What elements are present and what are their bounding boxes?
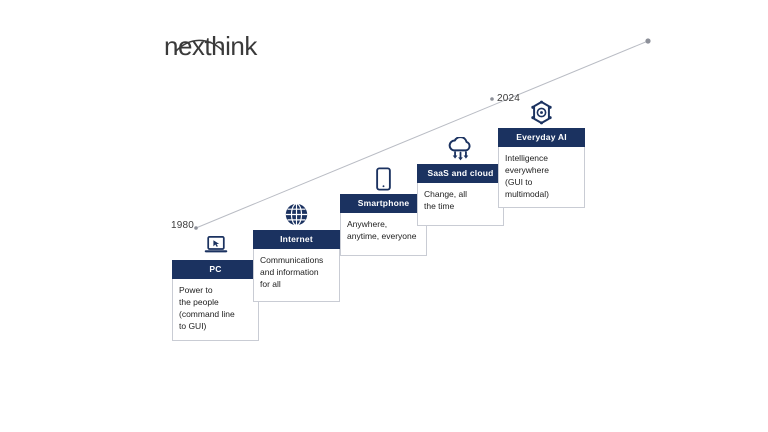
nexthink-logo: nexthink	[164, 30, 314, 64]
era-description: Power to the people (command line to GUI…	[172, 279, 259, 341]
era-title: PC	[172, 260, 259, 279]
era-description: Change, all the time	[417, 183, 504, 226]
svg-text:nexthink: nexthink	[164, 31, 258, 61]
era-card-pc[interactable]: PC Power to the people (command line to …	[172, 260, 259, 341]
era-card-saas[interactable]: SaaS and cloud Change, all the time	[417, 164, 504, 226]
era-card-internet[interactable]: Internet Communications and information …	[253, 230, 340, 302]
era-card-ai[interactable]: Everyday AI Intelligence everywhere (GUI…	[498, 128, 585, 208]
era-title: Smartphone	[340, 194, 427, 213]
cloud-download-icon	[446, 135, 476, 161]
era-title: Everyday AI	[498, 128, 585, 147]
globe-icon	[282, 201, 312, 227]
era-description: Intelligence everywhere (GUI to multimod…	[498, 147, 585, 208]
era-title: Internet	[253, 230, 340, 249]
timeline-start-year: 1980	[171, 220, 194, 231]
timeline-end-year: 2024	[497, 93, 520, 104]
laptop-cursor-icon	[201, 231, 231, 257]
ai-chip-icon	[527, 99, 557, 125]
era-description: Communications and information for all	[253, 249, 340, 302]
era-title: SaaS and cloud	[417, 164, 504, 183]
era-card-smartphone[interactable]: Smartphone Anywhere, anytime, everyone	[340, 194, 427, 256]
smartphone-icon	[369, 165, 399, 191]
era-description: Anywhere, anytime, everyone	[340, 213, 427, 256]
slide-canvas: nexthink 1980 2024 PC Power to the peopl…	[0, 0, 768, 432]
